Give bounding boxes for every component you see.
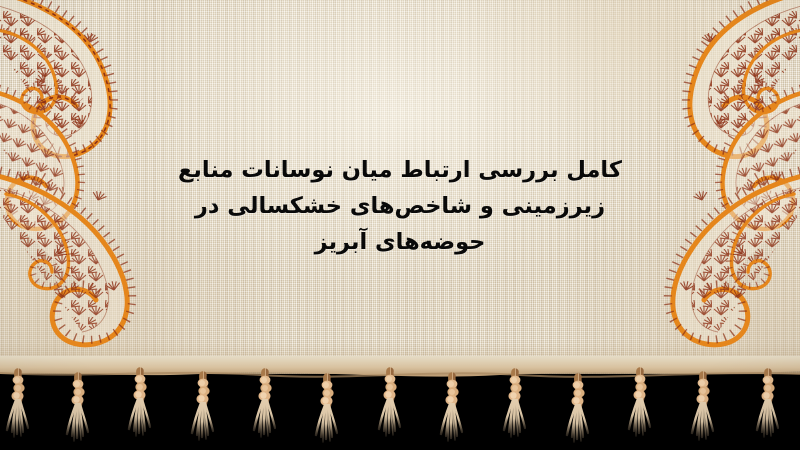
title-card-stage: کامل بررسی ارتباط میان نوسانات منابع زیر… [0,0,800,450]
title-line-1: کامل بررسی ارتباط میان نوسانات منابع [165,152,635,188]
title-line-3: حوضه‌های آبریز [165,224,635,260]
title-line-2: زیرزمینی و شاخص‌های خشکسالی در [165,188,635,224]
title-block: کامل بررسی ارتباط میان نوسانات منابع زیر… [165,152,635,260]
tassel-fringe [0,356,800,450]
